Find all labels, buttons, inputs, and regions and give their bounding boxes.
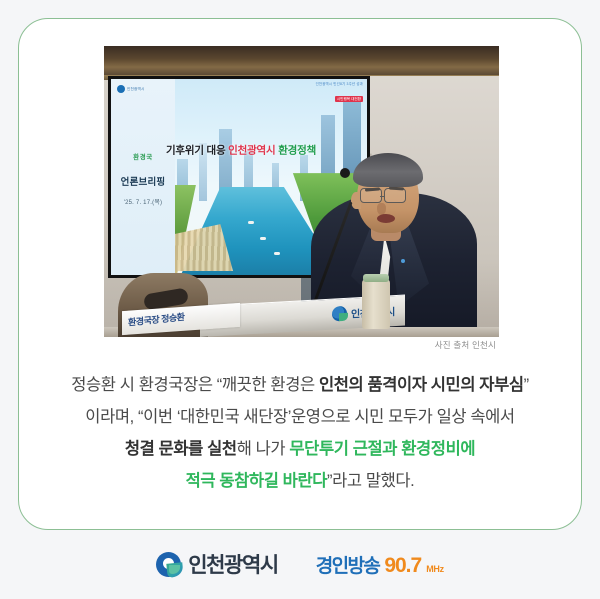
slide-briefing-label: 언론브리핑 (111, 174, 175, 188)
eyeglasses-bridge (380, 196, 385, 197)
gfn-frequency-unit: MHz (426, 564, 444, 574)
slide-boat (260, 237, 266, 240)
incheon-emblem-icon (332, 306, 347, 322)
footer-logos: 인천광역시 경인방송 90.7 MHz (0, 545, 600, 583)
speaker-hair (353, 153, 423, 187)
nameplate-text: 환경국장 정승환 (128, 310, 185, 329)
press-briefing-photo: 역시 광시 (104, 46, 499, 337)
lapel-pin-icon (401, 259, 405, 263)
incheon-emblem-icon (156, 552, 181, 577)
slide-boat (248, 221, 254, 224)
slide-left-panel: 인천광역시 환경국 언론브리핑 '25. 7. 17.(목) (111, 79, 175, 275)
quote-text: 정승환 시 환경국장은 “깨끗한 환경은 (71, 376, 319, 394)
slide-city-logo: 인천광역시 (117, 85, 145, 93)
quote-text: ” (524, 376, 529, 394)
slide-title-part2: 인천광역시 (228, 144, 275, 156)
quote-emphasis: 인천의 품격이자 시민의 자부심 (319, 376, 524, 394)
quote-line: 적극 동참하길 바란다”라고 말했다. (19, 465, 581, 497)
card-news-page: 역시 광시 (0, 0, 600, 599)
gfn-frequency: 90.7 (384, 554, 421, 578)
slide-logo-text: 인천광역시 (127, 87, 145, 92)
quote-highlight: 적극 동참하길 바란다 (186, 472, 327, 490)
photo-credit: 사진 출처 인천시 (19, 339, 496, 351)
microphone-head-icon (340, 168, 350, 178)
incheon-city-logo: 인천광역시 (156, 549, 278, 579)
quote-text: ”라고 말했다. (327, 472, 414, 490)
quote-highlight: 무단투기 근절과 환경정비에 (289, 440, 475, 458)
incheon-emblem-icon (117, 85, 125, 93)
slide-title-part1: 기후위기 대응 (166, 144, 225, 156)
speaker-mouth (377, 214, 395, 223)
slide-date: '25. 7. 17.(목) (111, 197, 175, 206)
gfn-logo-text: 경인방송 (316, 551, 380, 578)
quote-text: 이라며, “이번 ‘대한민국 새단장’운영으로 시민 모두가 일상 속에서 (85, 408, 514, 426)
incheon-city-logo-text: 인천광역시 (188, 549, 278, 579)
gfn-broadcast-logo: 경인방송 90.7 MHz (316, 551, 444, 578)
quote-line: 청결 문화를 실천해 나가 무단투기 근절과 환경정비에 (19, 433, 581, 465)
quote-text: 해 나가 (237, 440, 290, 458)
quote-line: 이라며, “이번 ‘대한민국 새단장’운영으로 시민 모두가 일상 속에서 (19, 401, 581, 433)
quote-body: 정승환 시 환경국장은 “깨끗한 환경은 인천의 품격이자 시민의 자부심”이라… (19, 369, 581, 497)
speaker-figure (305, 46, 481, 337)
quote-line: 정승환 시 환경국장은 “깨끗한 환경은 인천의 품격이자 시민의 자부심” (19, 369, 581, 401)
content-card: 역시 광시 (18, 18, 582, 530)
photo-scene: 역시 광시 (104, 46, 499, 337)
quote-emphasis: 청결 문화를 실천 (125, 440, 237, 458)
tumbler-cup (362, 279, 390, 329)
